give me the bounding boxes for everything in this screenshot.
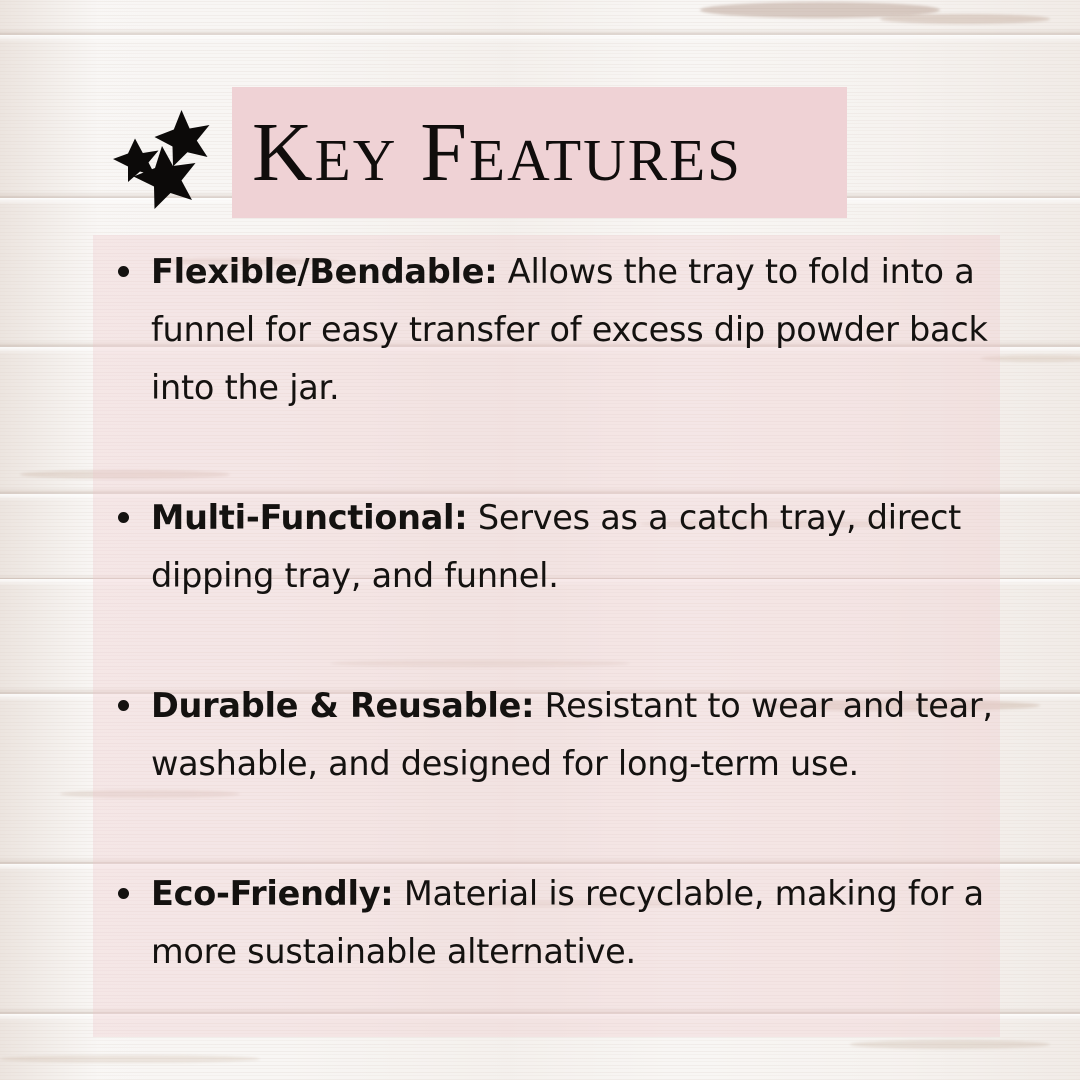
feature-list: Flexible/Bendable: Allows the tray to fo…: [112, 243, 1012, 981]
list-item: Eco-Friendly: Material is recyclable, ma…: [112, 865, 1012, 981]
feature-lead: Multi-Functional:: [151, 498, 467, 537]
three-stars-icon: [104, 108, 220, 210]
feature-lead: Flexible/Bendable:: [151, 252, 497, 291]
list-item: Multi-Functional: Serves as a catch tray…: [112, 489, 1012, 605]
page-title: Key Features: [252, 87, 852, 218]
key-features-poster: Key Features Flexible/Bendable: Allows t…: [0, 0, 1080, 1080]
feature-lead: Durable & Reusable:: [151, 686, 534, 725]
bullet-icon: [118, 266, 129, 277]
bullet-icon: [118, 700, 129, 711]
list-item: Flexible/Bendable: Allows the tray to fo…: [112, 243, 1012, 417]
bullet-icon: [118, 888, 129, 899]
list-item: Durable & Reusable: Resistant to wear an…: [112, 677, 1012, 793]
feature-lead: Eco-Friendly:: [151, 874, 393, 913]
bullet-icon: [118, 512, 129, 523]
